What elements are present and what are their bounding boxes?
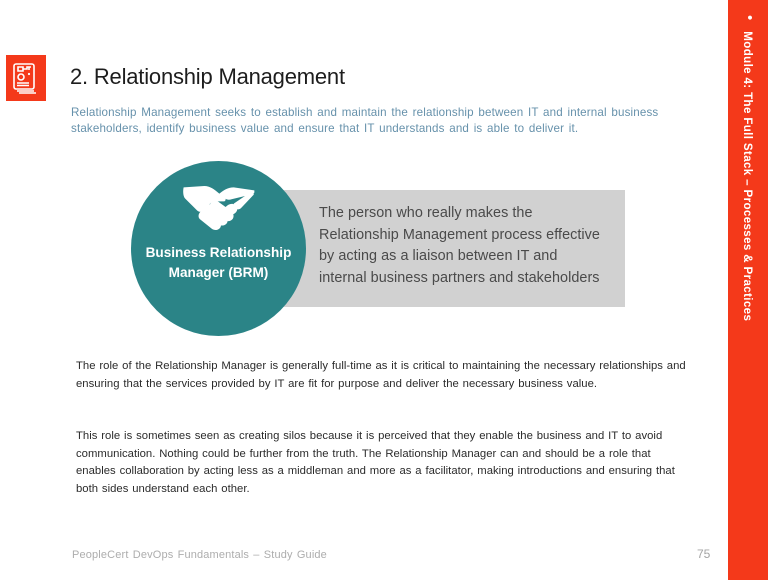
module-sidebar-label: Module 4: The Full Stack – Processes & P… <box>742 31 755 321</box>
callout-text: The person who really makes the Relation… <box>319 203 609 289</box>
document-diagram-icon <box>6 55 46 101</box>
module-sidebar-inner: • Module 4: The Full Stack – Processes &… <box>728 0 768 580</box>
page-title: 2. Relationship Management <box>70 64 345 90</box>
footer-text: PeopleCert DevOps Fundamentals – Study G… <box>72 549 327 561</box>
callout-box: The person who really makes the Relation… <box>281 190 625 307</box>
page-number: 75 <box>697 547 710 561</box>
handshake-icon <box>182 183 256 239</box>
module-sidebar: • Module 4: The Full Stack – Processes &… <box>728 0 768 580</box>
body-paragraph-2: This role is sometimes seen as creating … <box>76 428 693 498</box>
brm-label: Business Relationship Manager (BRM) <box>131 243 306 282</box>
slide-canvas: 2. Relationship Management Relationship … <box>0 0 773 580</box>
intro-paragraph: Relationship Management seeks to establi… <box>71 105 671 137</box>
brm-circle: Business Relationship Manager (BRM) <box>131 161 306 336</box>
body-paragraph-1: The role of the Relationship Manager is … <box>76 358 693 393</box>
bullet-icon: • <box>743 15 758 20</box>
